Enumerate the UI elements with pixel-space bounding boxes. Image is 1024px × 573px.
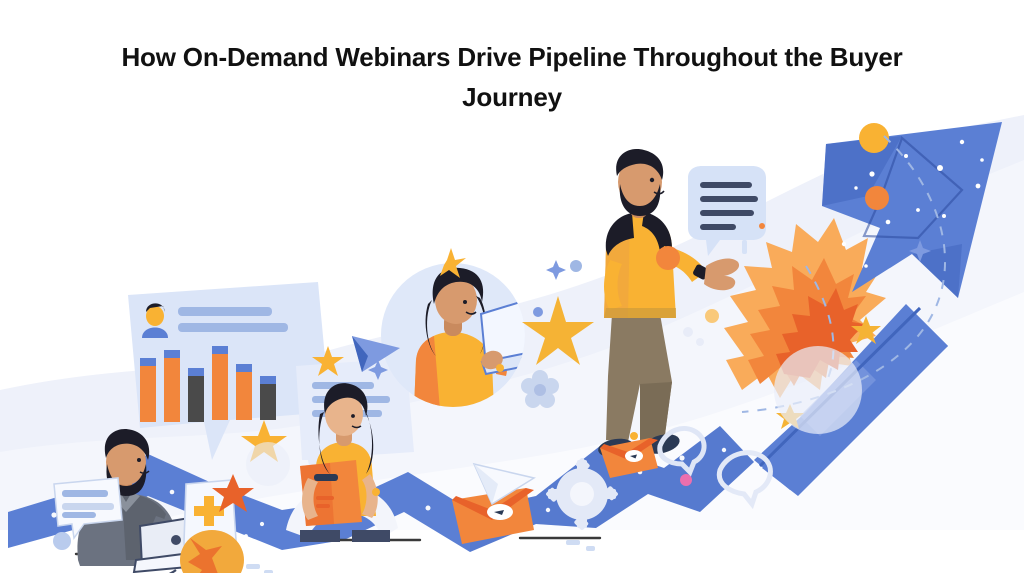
hero-banner: How On-Demand Webinars Drive Pipeline Th…: [0, 0, 1024, 573]
faint-circle-2: [246, 442, 290, 486]
blue-dot: [53, 532, 71, 550]
illustration-canvas: [0, 60, 1024, 573]
faint-circle: [774, 346, 862, 434]
hero-illustration: [0, 60, 1024, 573]
